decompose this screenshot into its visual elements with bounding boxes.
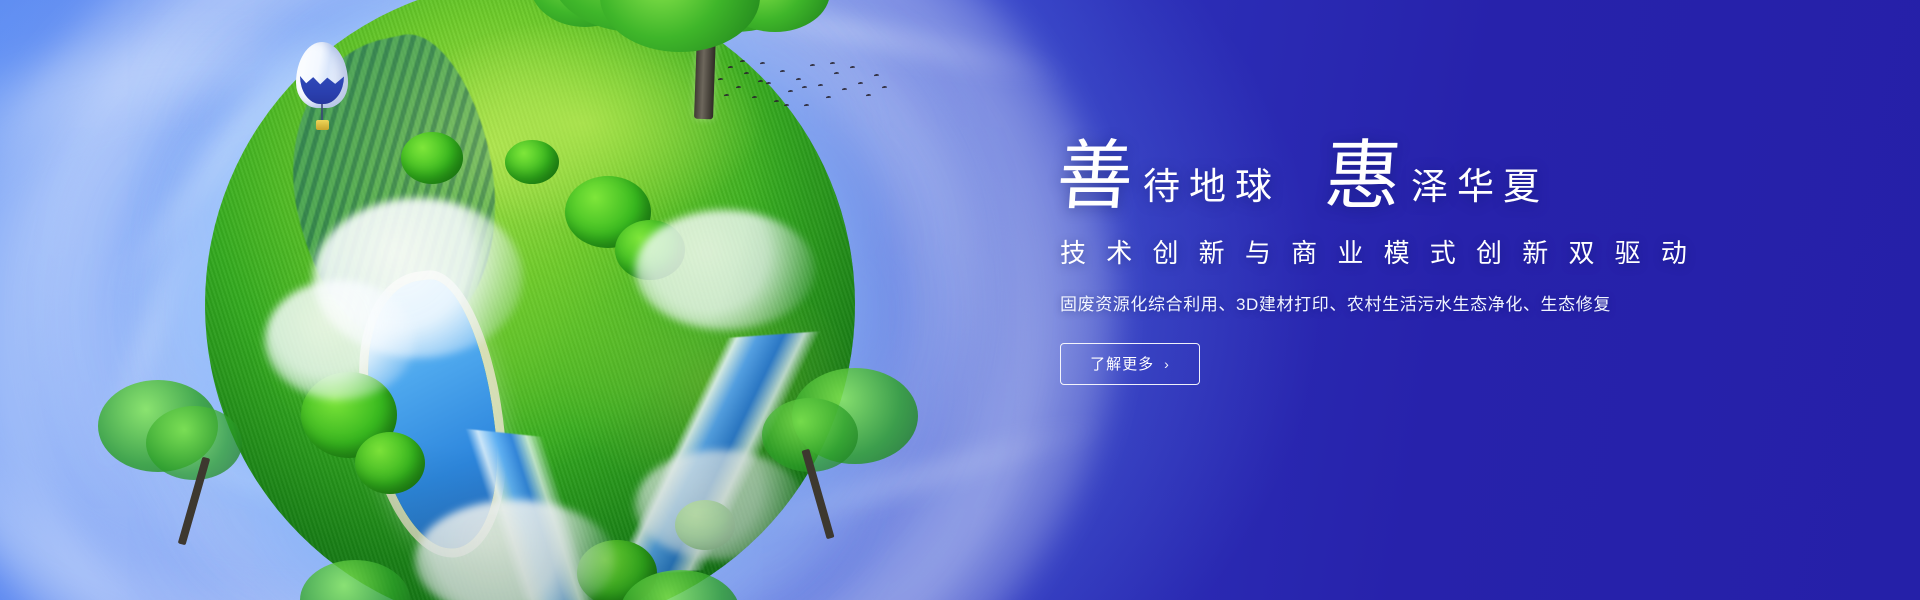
balloon-basket [316,120,329,130]
headline-rest-2: 泽华夏 [1401,168,1549,213]
subtitle: 技 术 创 新 与 商 业 模 式 创 新 双 驱 动 [1060,233,1817,270]
learn-more-button[interactable]: 了解更多 › [1060,343,1200,385]
headline: 善 待地球 惠 泽华夏 [1057,140,1817,213]
headline-accent-char-2: 惠 [1322,140,1403,213]
hot-air-balloon [296,42,348,134]
tree-canopy [600,0,760,52]
headline-rest-1: 待地球 [1133,168,1281,213]
bird-flock [714,52,894,116]
banner-content: 善 待地球 惠 泽华夏 技 术 创 新 与 商 业 模 式 创 新 双 驱 动 … [1057,140,1817,385]
description: 固废资源化综合利用、3D建材打印、农村生活污水生态净化、生态修复 [1060,290,1817,315]
hero-banner: 善 待地球 惠 泽华夏 技 术 创 新 与 商 业 模 式 创 新 双 驱 动 … [0,0,1920,600]
learn-more-label: 了解更多 [1090,353,1154,374]
chevron-right-icon: › [1164,356,1170,372]
headline-accent-char-1: 善 [1054,140,1135,213]
